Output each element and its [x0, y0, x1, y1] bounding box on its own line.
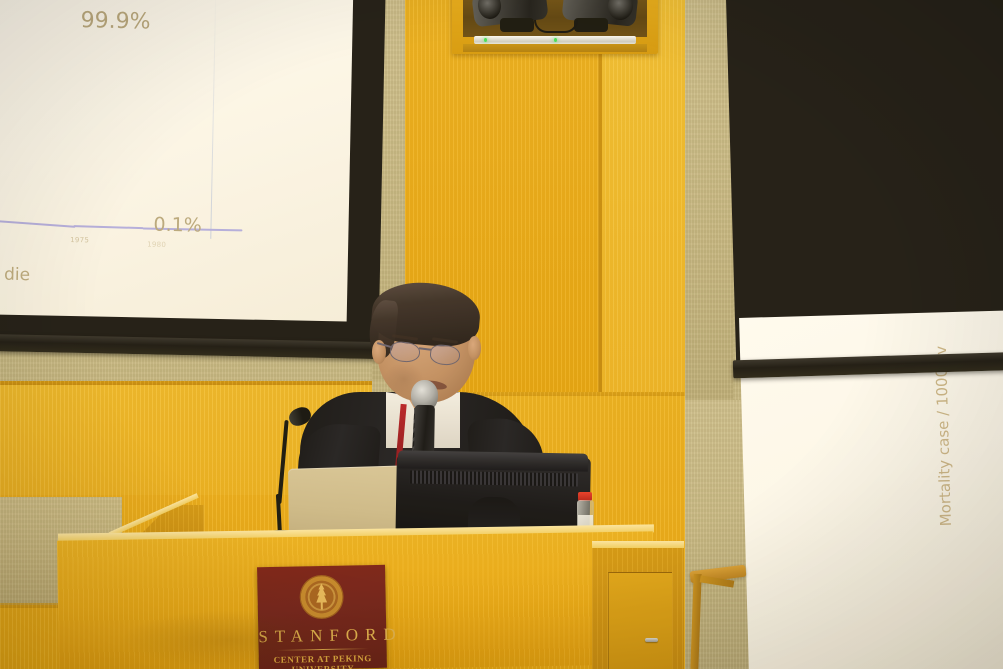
podium-cabinet-door[interactable]	[608, 572, 672, 669]
niche-shelf	[463, 44, 647, 52]
x-tick-1980: 1980	[147, 241, 166, 249]
monitor-top-bezel	[398, 450, 588, 471]
chart-line-segment-4	[73, 225, 143, 229]
wall-fabric-strip-right	[685, 0, 733, 400]
speaker-mount-right	[574, 18, 608, 32]
right-slide-axis-label: Mortality case / 1000 liv	[932, 346, 955, 527]
podium-cast-shadow	[120, 610, 340, 669]
lecture-hall-photo: 99.9% 0.1% 60 1965 1970 1975 1980 ntly l…	[0, 0, 1003, 669]
left-projection-screen[interactable]: 99.9% 0.1% 60 1965 1970 1975 1980 ntly l…	[0, 0, 353, 322]
cabinet-door-handle[interactable]	[645, 638, 658, 642]
av-cable	[534, 20, 578, 33]
presenter-ear-right	[468, 336, 481, 360]
led-indicator-right	[554, 38, 557, 42]
led-indicator-left	[484, 38, 487, 42]
speaker-mount-left	[500, 18, 534, 32]
wood-panel-seam-center	[598, 0, 602, 396]
slide-top-value: 99.9%	[80, 8, 150, 34]
podium-right-top-edge	[592, 541, 684, 548]
slide-caption-line-1: ntly less than 10 children die	[0, 260, 30, 285]
slide-bottom-value: 0.1%	[153, 214, 202, 237]
slide-vertical-gridline	[210, 0, 216, 239]
wood-panel-center-right	[601, 0, 685, 396]
stanford-tree-icon	[313, 583, 329, 609]
x-tick-1975: 1975	[70, 236, 89, 244]
chart-line-segment-3	[0, 219, 75, 228]
